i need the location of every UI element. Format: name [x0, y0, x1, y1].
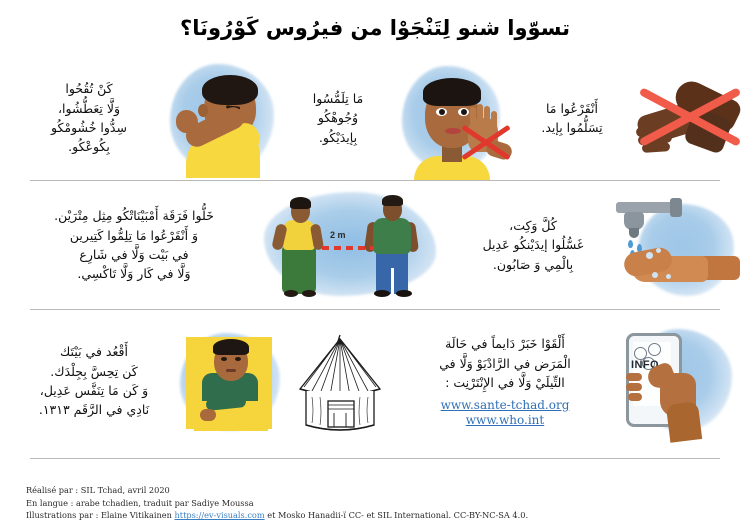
soap-bubble: [646, 252, 653, 259]
tap-pipe-shape: [616, 202, 676, 213]
credit-line-illustrations: Illustrations par : Elaine Vitikainen ht…: [26, 509, 528, 522]
stay-informed-lines: أَلْقَوْا خَبَرْ دَايماً في حَالَة الْمَ…: [390, 334, 620, 392]
credit-line-language: En langue : arabe tchadien, traduit par …: [26, 497, 528, 510]
distance-label: 2 m: [330, 230, 346, 240]
left-eye-shape: [221, 357, 227, 361]
soap-bubble: [666, 274, 671, 279]
hair-shape: [213, 339, 249, 355]
soap-bubble: [656, 248, 661, 253]
illustration-person-coughing-into-elbow: [164, 58, 276, 178]
footer-divider: [30, 458, 720, 459]
panel-stay-home: أَقْعُد في بَيْتَك كَن تِحِسَّ بِجِلْدَك…: [0, 310, 390, 452]
panel-text-wash-hands: كُلَّ وَكِت، غَسُّلُوا إيدَيْنكُو عَدِيل…: [450, 216, 616, 274]
leg-split-shape: [391, 268, 394, 294]
credit-illustrations-suffix: et Mosko Hanadii-ï CC- et SIL Internatio…: [265, 510, 528, 520]
hut-line-drawing: [290, 327, 390, 435]
panel-wash-hands: كُلَّ وَكِت، غَسُّلُوا إيدَيْنكُو عَدِيل…: [450, 181, 750, 309]
distance-dashed-line: [322, 246, 374, 250]
panel-text-stay-informed: أَلْقَوْا خَبَرْ دَايماً في حَالَة الْمَ…: [390, 334, 620, 427]
panel-no-handshake: أَنْقَرْعُوا مَا تِسَلُّمُوا بِإيد.: [512, 56, 750, 180]
illustration-hand-washing: [616, 186, 738, 304]
hair-shape: [202, 75, 258, 105]
lips-shape: [445, 128, 461, 134]
page-title: تسوّوا شنو لِتَنْجَوْا من فيرُوس كَوْرُو…: [180, 16, 570, 40]
shoe-shape: [374, 290, 390, 297]
row-prevention-basics: كَنْ تُقُحُوا وَلَّا تِعَطُّشُوا، سِدُّو…: [0, 56, 750, 180]
link-sante-tchad[interactable]: www.sante-tchad.org: [390, 398, 620, 413]
illustration-hand-holding-phone: INFO: [620, 321, 740, 441]
mouth-shape: [226, 369, 236, 372]
row-stay-home-and-informed: أَقْعُد في بَيْتَك كَن تِحِسَّ بِجِلْدَك…: [0, 310, 750, 452]
right-eye-shape: [235, 357, 241, 361]
row-distance-and-washing: خَلُّوا فَرَقَة أَمْبَيْنَاتْكُو مِثِل م…: [0, 181, 750, 309]
finger-shape: [628, 393, 642, 401]
hand-shape: [200, 409, 216, 421]
credit-illustrations-prefix: Illustrations par : Elaine Vitikainen: [26, 510, 175, 520]
shoe-shape: [302, 290, 316, 297]
finger-shape: [626, 373, 642, 381]
soap-bubble: [652, 272, 658, 278]
hair-shape: [423, 78, 481, 106]
panel-text-cough: كَنْ تُقُحُوا وَلَّا تِعَطُّشُوا، سِدُّو…: [14, 79, 164, 157]
panel-cough-into-elbow: كَنْ تُقُحُوا وَلَّا تِعَطُّشُوا، سِدُّو…: [0, 56, 282, 180]
virus-icon: [648, 343, 661, 356]
tap-spout-shape: [629, 228, 639, 238]
link-ev-visuals[interactable]: https://ev-visuals.com: [175, 510, 265, 520]
link-who[interactable]: www.who.int: [390, 413, 620, 428]
illustration-handshake-crossed-out: [632, 63, 750, 173]
ear-shape: [198, 104, 208, 117]
credit-line-producer: Réalisé par : SIL Tchad, avril 2020: [26, 484, 528, 497]
left-pupil-shape: [439, 109, 445, 115]
panel-text-stay-home: أَقْعُد في بَيْتَك كَن تِحِسَّ بِجِلْدَك…: [18, 342, 170, 420]
illustration-person-in-bed: [180, 325, 284, 437]
fist-shape: [176, 110, 198, 133]
panel-text-no-handshake: أَنْقَرْعُوا مَا تِسَلُّمُوا بِإيد.: [512, 99, 632, 138]
illustration-two-people-distance: 2 m: [260, 186, 440, 304]
info-links: www.sante-tchad.org www.who.int: [390, 398, 620, 428]
top-shape: [283, 220, 315, 250]
skirt-shape: [282, 246, 316, 294]
title-bar: تسوّوا شنو لِتَنْجَوْا من فيرُوس كَوْرُو…: [0, 0, 750, 56]
illustration-thatched-hut: [290, 327, 390, 435]
poster-root: تسوّوا شنو لِتَنْجَوْا من فيرُوس كَوْرُو…: [0, 0, 750, 530]
hair-shape: [382, 195, 403, 206]
footer-credits: Réalisé par : SIL Tchad, avril 2020 En l…: [26, 484, 528, 522]
illustration-face-hand-crossed-out: [394, 58, 506, 178]
shoe-shape: [396, 290, 412, 297]
panel-text-dont-touch-face: مَا تِلَمُّسُوا وُجُوهْكُو بِإيدَيْكُو.: [282, 89, 394, 147]
shoe-shape: [284, 290, 298, 297]
right-pupil-shape: [461, 109, 467, 115]
forearm-shape: [666, 401, 702, 443]
panel-stay-informed: أَلْقَوْا خَبَرْ دَايماً في حَالَة الْمَ…: [390, 310, 750, 452]
tap-valve-shape: [670, 198, 682, 217]
finger-shape: [626, 383, 642, 391]
panel-text-keep-distance: خَلُّوا فَرَقَة أَمْبَيْنَاتْكُو مِثِل م…: [16, 206, 252, 284]
water-drop: [628, 240, 633, 248]
panel-keep-distance: خَلُّوا فَرَقَة أَمْبَيْنَاتْكُو مِثِل م…: [0, 181, 450, 309]
panel-dont-touch-face: مَا تِلَمُّسُوا وُجُوهْكُو بِإيدَيْكُو.: [282, 56, 512, 180]
hair-shape: [290, 197, 311, 209]
tshirt-shape: [373, 218, 411, 254]
